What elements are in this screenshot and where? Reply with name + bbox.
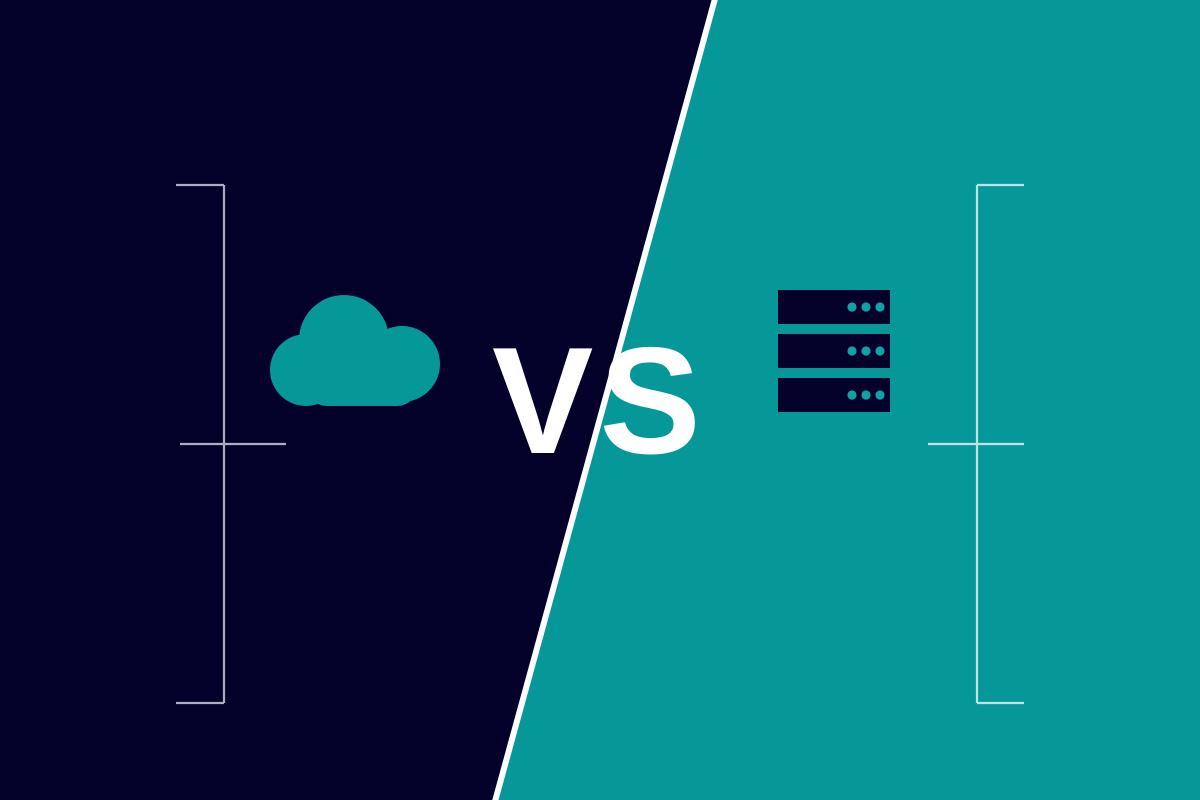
versus-label: VS [492, 325, 707, 477]
left-connector-bracket [168, 180, 468, 720]
cloud-icon [262, 292, 462, 422]
infographic-canvas: Cloud Base (SAAS) On-Premise VS [0, 0, 1200, 800]
right-connector-bracket [928, 180, 1200, 720]
server-rack-icon [776, 288, 896, 423]
